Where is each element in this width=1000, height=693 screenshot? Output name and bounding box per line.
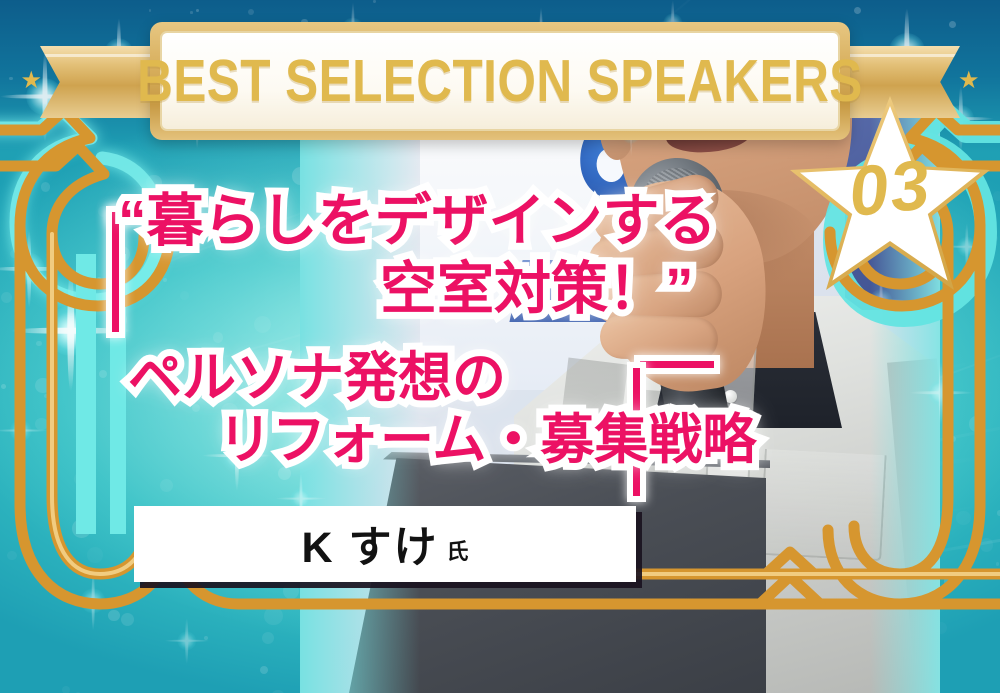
speaker-name: K すけ (301, 513, 438, 575)
speaker-name-suffix: 氏 (446, 534, 468, 566)
ribbon-title: BEST SELECTION SPEAKERS (137, 47, 863, 115)
photo-shirt-pocket (759, 449, 886, 561)
star-badge: 03 (790, 96, 990, 296)
headline-line-2: 空室対策！” (380, 258, 760, 322)
ribbon-plate: ★ BEST SELECTION SPEAKERS ★ (150, 22, 850, 140)
speaker-promo-banner: ★ BEST SELECTION SPEAKERS ★ 03 “暮らしをデザイン… (0, 0, 1000, 693)
subtitle-line-1: ペルソナ発想の (128, 348, 760, 408)
subtitle-line-2: リフォーム・募集戦略 (218, 410, 760, 470)
headline-block: “暮らしをデザインする 空室対策！” ペルソナ発想の リフォーム・募集戦略 (0, 190, 760, 471)
speaker-name-box: K すけ 氏 (134, 506, 636, 582)
headline-line-1: “暮らしをデザインする (118, 190, 760, 254)
ribbon-inner-plate: ★ BEST SELECTION SPEAKERS ★ (160, 31, 840, 131)
ribbon-star-right-icon: ★ (958, 69, 980, 93)
star-badge-number: 03 (786, 138, 993, 238)
ribbon-star-left-icon: ★ (21, 69, 43, 93)
